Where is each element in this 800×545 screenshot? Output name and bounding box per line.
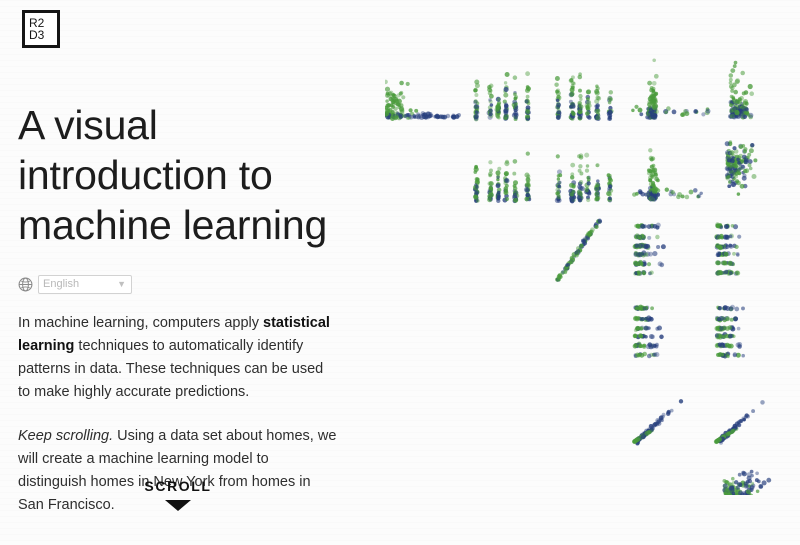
scroll-label: SCROLL: [18, 478, 338, 494]
scatterplot-matrix-canvas: [385, 45, 795, 495]
language-select-value: English: [43, 278, 79, 290]
language-selector-row: English ▼: [18, 274, 338, 294]
language-select[interactable]: English ▼: [38, 275, 132, 294]
page-title: A visual introduction to machine learnin…: [18, 100, 338, 250]
r2d3-logo[interactable]: R2 D3: [22, 10, 60, 48]
paragraph-2-italic-lead: Keep scrolling.: [18, 428, 113, 444]
scatterplot-matrix: [385, 45, 795, 495]
intro-column: A visual introduction to machine learnin…: [18, 100, 338, 517]
chevron-down-icon: ▼: [117, 280, 126, 289]
down-triangle-icon: [165, 500, 191, 511]
page-title-line-1: A visual: [18, 100, 338, 150]
page-title-line-3: machine learning: [18, 200, 338, 250]
paragraph-1-before-bold: In machine learning, computers apply: [18, 315, 263, 331]
globe-icon: [18, 277, 33, 292]
intro-paragraph-1: In machine learning, computers apply sta…: [18, 312, 338, 404]
page-title-line-2: introduction to: [18, 150, 338, 200]
logo-line-2: D3: [29, 29, 57, 41]
scroll-indicator[interactable]: SCROLL: [18, 478, 338, 511]
landing-page: R2 D3 A visual introduction to machine l…: [0, 0, 800, 545]
